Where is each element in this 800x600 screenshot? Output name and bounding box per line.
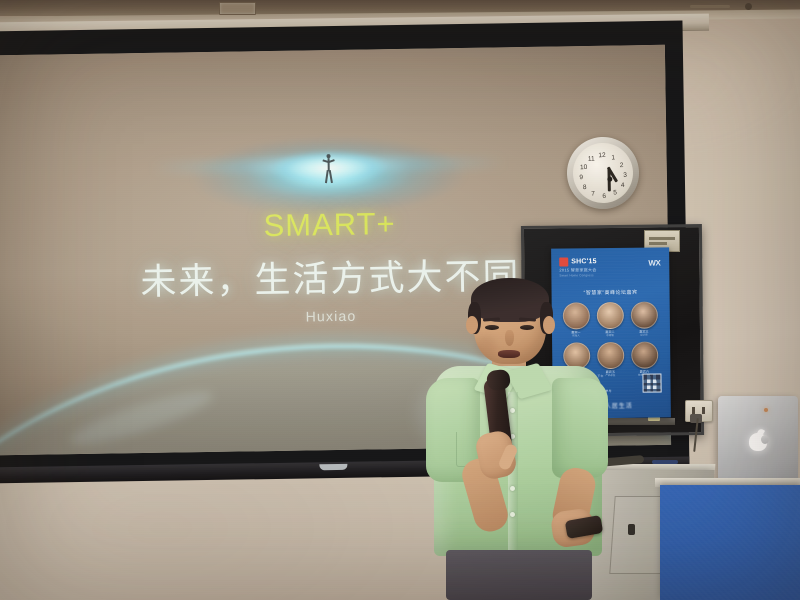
poster-speaker: 嘉宾六 技术负责人 [630,341,658,377]
presenter-eye-right [520,325,534,330]
presenter-sleeve-right [552,378,608,478]
clock-center-pin [607,176,612,181]
poster-logo-mark [559,257,568,266]
lecture-hall-photo: SMART+ 未来，生活方式大不同 Huxiao 12 1 2 3 4 5 6 … [0,0,800,600]
clock-face: 12 1 2 3 4 5 6 7 8 9 10 11 [571,141,634,204]
speaker-avatar [631,341,658,368]
presenter [424,282,614,600]
desk-panel [660,485,800,600]
poster-logo-subtitle-en: Smart Home Congress [559,273,593,277]
clock-number: 8 [580,184,590,192]
poster-speaker: 嘉宾三 设计师 [630,302,658,338]
ceiling-track [690,5,730,8]
presenter-cheek-shadow [476,334,496,360]
speaker-role: 设计师 [630,334,658,338]
shirt-button [510,408,515,413]
presenter-ear-right [543,316,555,334]
clock-number: 4 [618,182,628,190]
laptop-indicator-light [764,408,768,412]
qr-code-icon [642,373,661,392]
silhouette-leg-right [329,170,333,183]
apple-logo-notch [761,435,769,444]
clock-number: 11 [586,155,596,163]
ceiling-fixture-knob [745,3,752,10]
clock-number: 6 [599,193,609,201]
clock-number: 12 [597,152,607,160]
poster-partner-logo: WX [648,258,660,267]
macbook-laptop [718,396,798,488]
apple-logo-icon [748,428,768,452]
screen-pull-tab [319,464,347,470]
presenter-hair [471,278,549,322]
poster-logo-text: SHC'15 [571,258,597,265]
presenter-eye-left [485,325,499,330]
presenter-nose [505,330,514,346]
presenter-mouth [498,350,520,358]
clock-number: 2 [616,162,626,170]
speaker-avatar [630,302,657,329]
human-silhouette-icon [323,154,333,184]
desk-texture [660,485,800,600]
ceiling-label [219,2,256,15]
presenter-trousers [446,550,592,600]
marker-pen [652,460,678,464]
podium-door-handle [628,524,635,535]
clock-number: 3 [620,172,630,180]
poster-logo: SHC'15 [559,257,597,266]
shirt-button [510,486,515,491]
clock-number: 7 [588,190,598,198]
shirt-button [510,512,515,517]
clock-number: 10 [579,164,589,172]
clock-number: 9 [576,174,586,182]
clock-number: 5 [610,189,620,197]
clock-number: 1 [608,154,618,162]
presenter-ear-left [466,316,478,334]
